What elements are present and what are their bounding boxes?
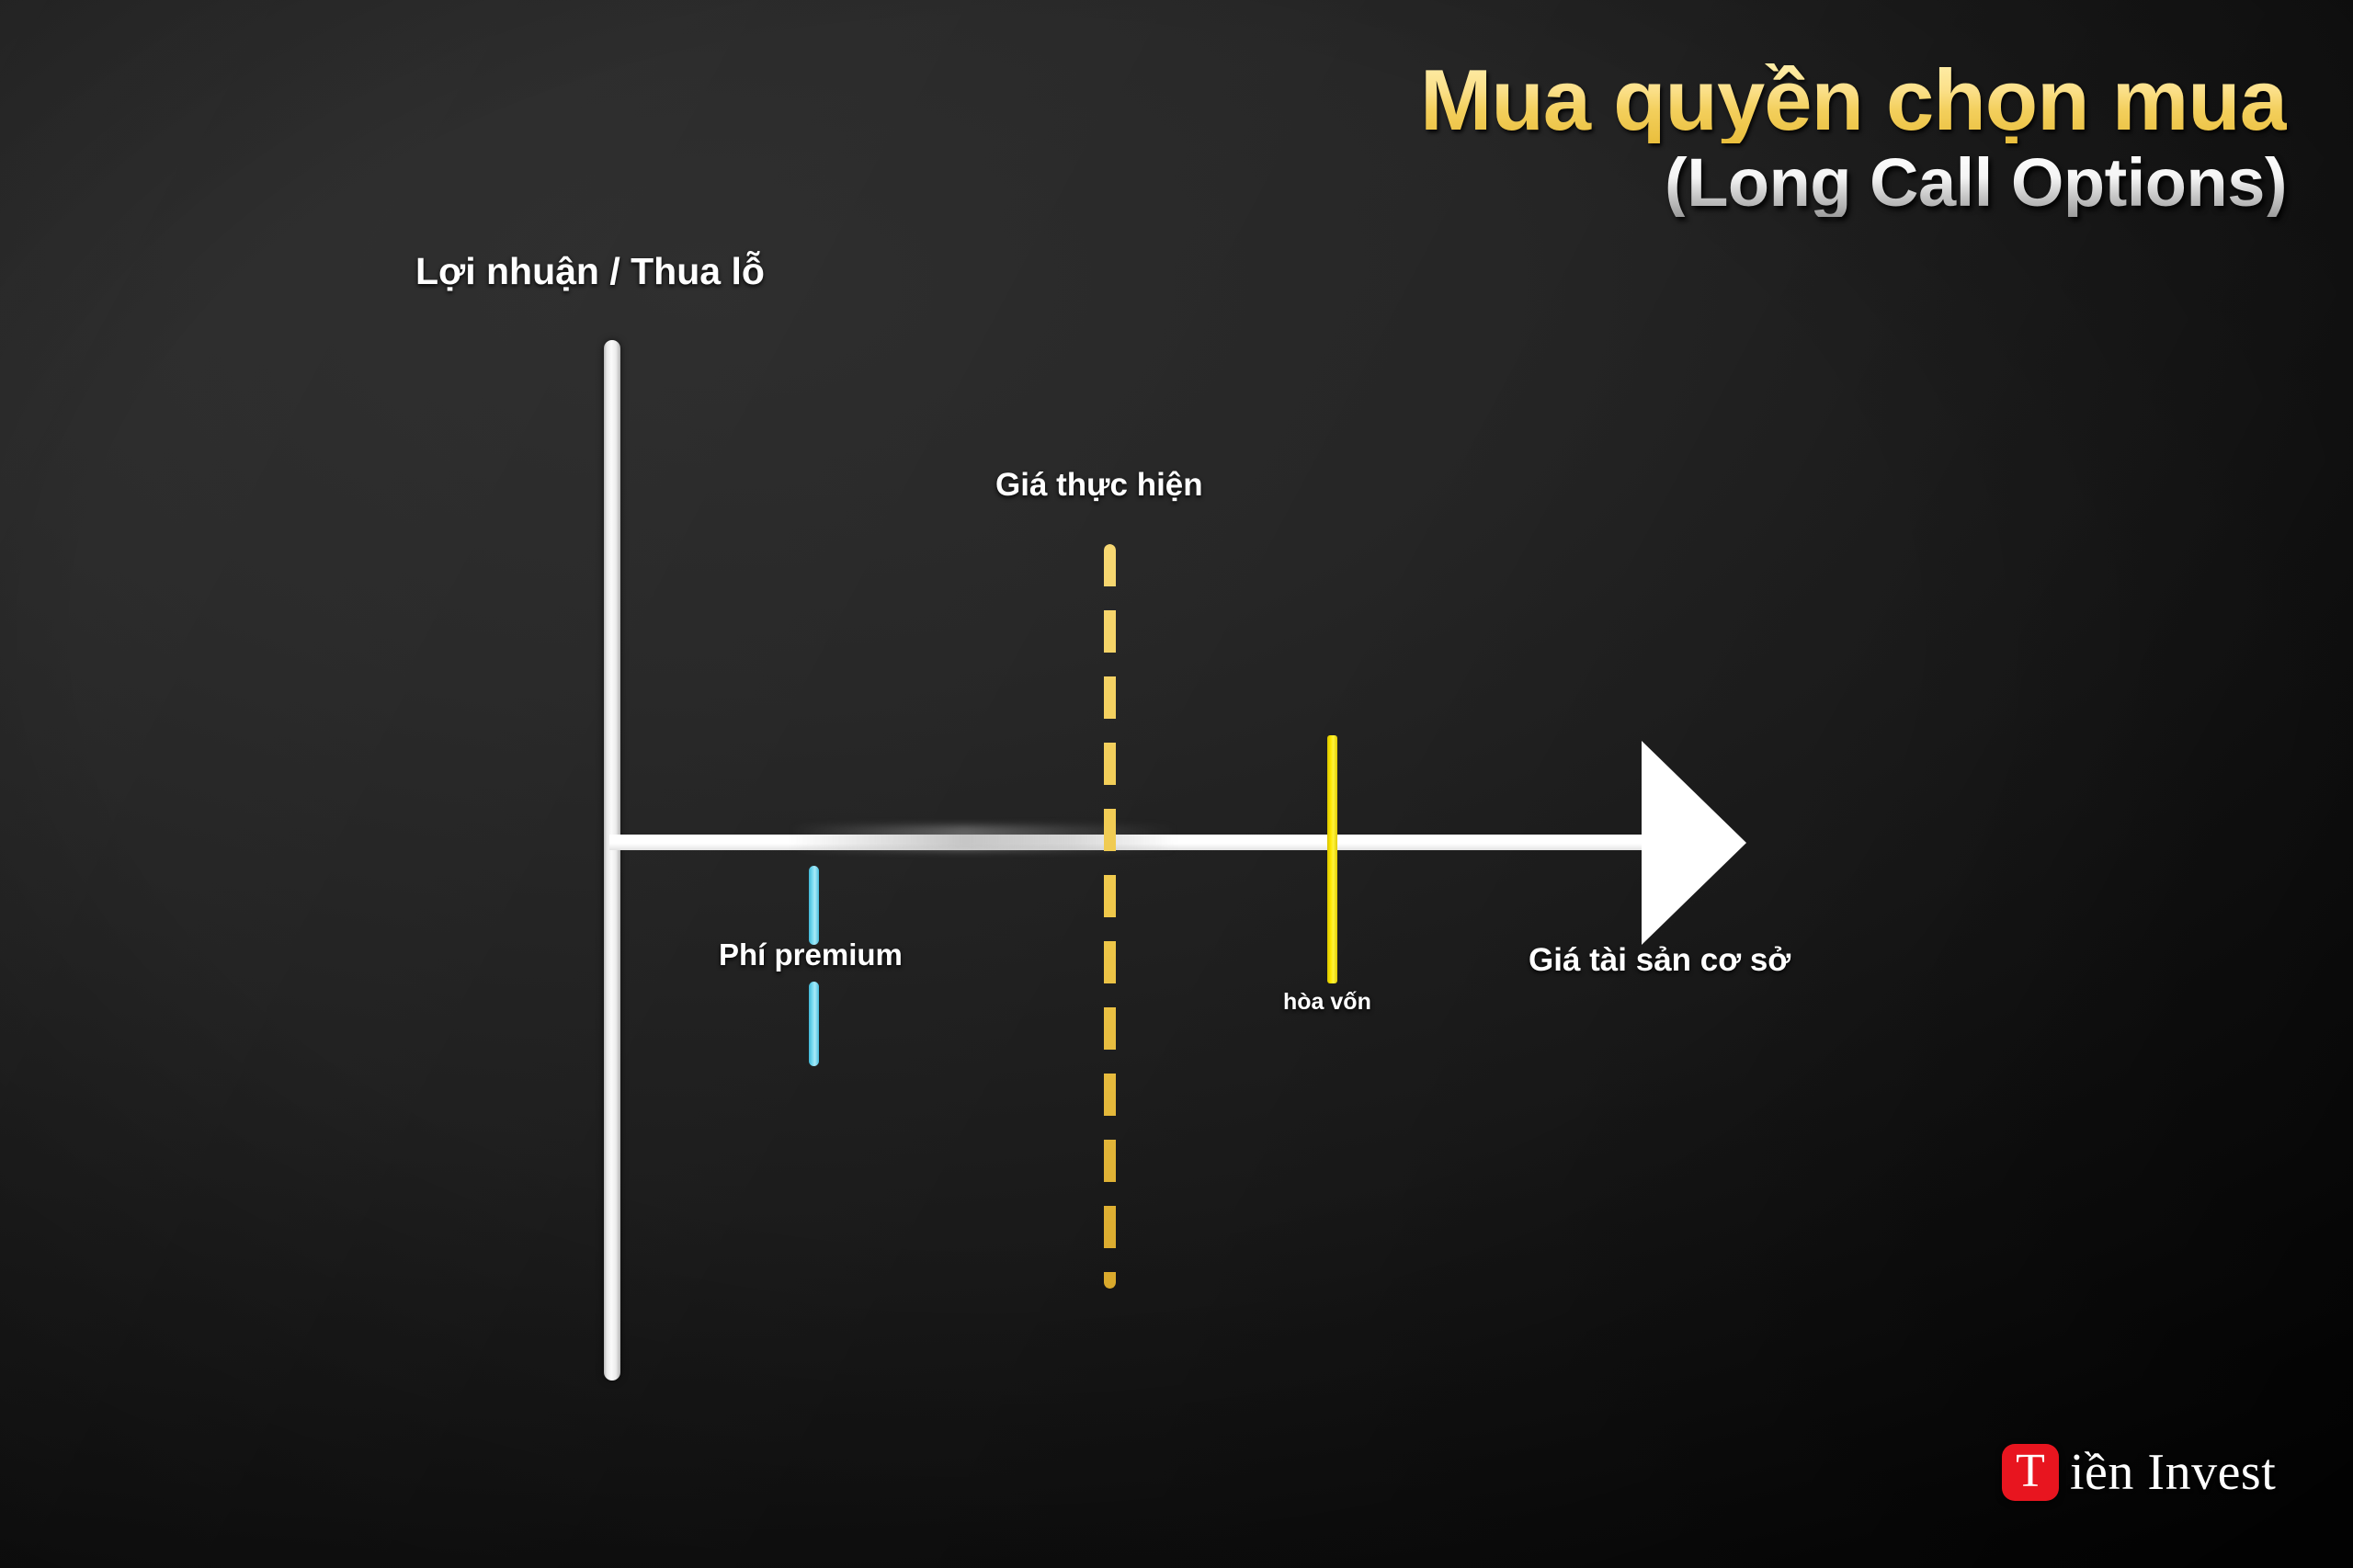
strike-price-dashed-line (1104, 544, 1116, 1289)
y-axis-line (604, 340, 620, 1381)
brand-logo[interactable]: T iền Invest (2002, 1443, 2276, 1502)
page-title: Mua quyền chọn mua (1420, 57, 2287, 143)
breakeven-label: hòa vốn (1283, 989, 1371, 1016)
page-subtitle: (Long Call Options) (1420, 149, 2287, 217)
background-vignette (0, 0, 2353, 1568)
premium-marker-lower (809, 982, 819, 1066)
logo-mark-icon: T (2002, 1444, 2059, 1501)
x-axis-arrow-icon (1642, 741, 1746, 945)
logo-wordmark: iền Invest (2070, 1443, 2276, 1502)
x-axis-label: Giá tài sản cơ sở (1529, 942, 1790, 979)
breakeven-marker-line (1327, 735, 1337, 983)
y-axis-label: Lợi nhuận / Thua lỗ (415, 250, 765, 293)
premium-label: Phí premium (719, 937, 903, 972)
logo-mark-letter: T (2016, 1448, 2045, 1495)
x-axis-line (609, 835, 1648, 850)
strike-price-label: Giá thực hiện (995, 467, 1203, 504)
premium-marker-upper (809, 866, 819, 945)
diagram-canvas: Mua quyền chọn mua (Long Call Options) L… (0, 0, 2353, 1568)
title-block: Mua quyền chọn mua (Long Call Options) (1420, 57, 2287, 217)
